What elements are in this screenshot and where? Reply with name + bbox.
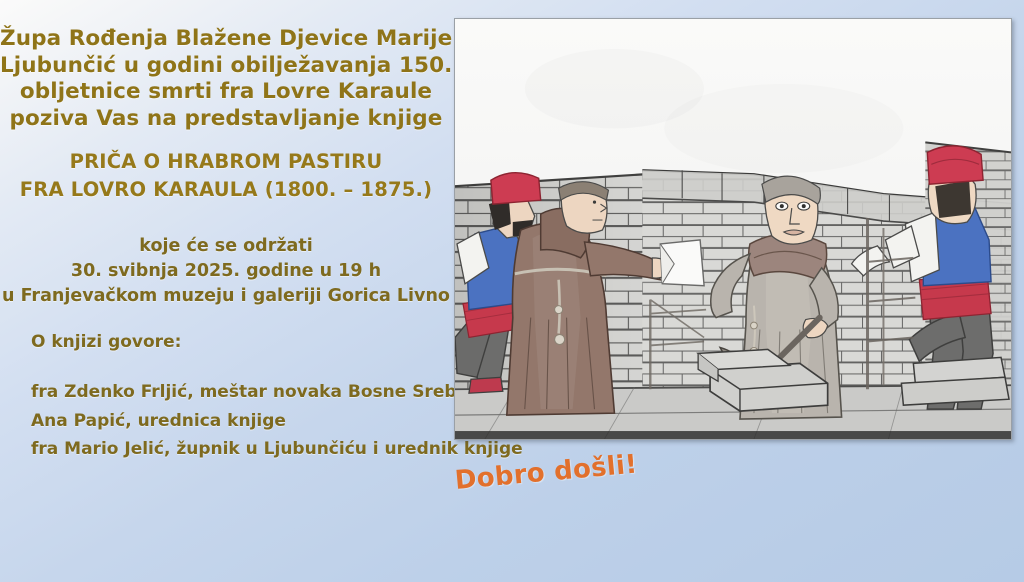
- intro-line-3: obljetnice smrti fra Lovre Karaule: [0, 79, 452, 106]
- book-title-line-1: PRIČA O HRABROM PASTIRU: [0, 148, 452, 176]
- event-line-1: koje će se održati: [0, 234, 452, 259]
- speakers-heading: O knjizi govore:: [31, 332, 181, 352]
- event-date-time: 30. svibnja 2025. godine u 19 h: [0, 259, 452, 284]
- speakers-list: fra Zdenko Frljić, meštar novaka Bosne S…: [31, 378, 451, 464]
- intro-line-1: Župa Rođenja Blažene Djevice Marije: [0, 26, 452, 53]
- book-title-line-2: FRA LOVRO KARAULA (1800. – 1875.): [0, 176, 452, 204]
- speaker-3: fra Mario Jelić, župnik u Ljubunčiću i u…: [31, 435, 451, 464]
- event-details: koje će se održati 30. svibnja 2025. god…: [0, 234, 452, 309]
- event-venue: u Franjevačkom muzeju i galeriji Gorica …: [0, 284, 452, 309]
- book-title: PRIČA O HRABROM PASTIRU FRA LOVRO KARAUL…: [0, 148, 452, 204]
- illustration-frame: [454, 18, 1012, 440]
- text-column: Župa Rođenja Blažene Djevice Marije Ljub…: [0, 0, 452, 582]
- intro-line-4: poziva Vas na predstavljanje knjige: [0, 106, 452, 133]
- poster-canvas: Župa Rođenja Blažene Djevice Marije Ljub…: [0, 0, 1024, 582]
- intro-paragraph: Župa Rođenja Blažene Djevice Marije Ljub…: [0, 26, 452, 132]
- speaker-1: fra Zdenko Frljić, meštar novaka Bosne S…: [31, 378, 451, 407]
- intro-line-2: Ljubunčić u godini obilježavanja 150.: [0, 53, 452, 80]
- pencil-drawing-illustration: [455, 19, 1011, 439]
- speaker-2: Ana Papić, urednica knjige: [31, 407, 451, 436]
